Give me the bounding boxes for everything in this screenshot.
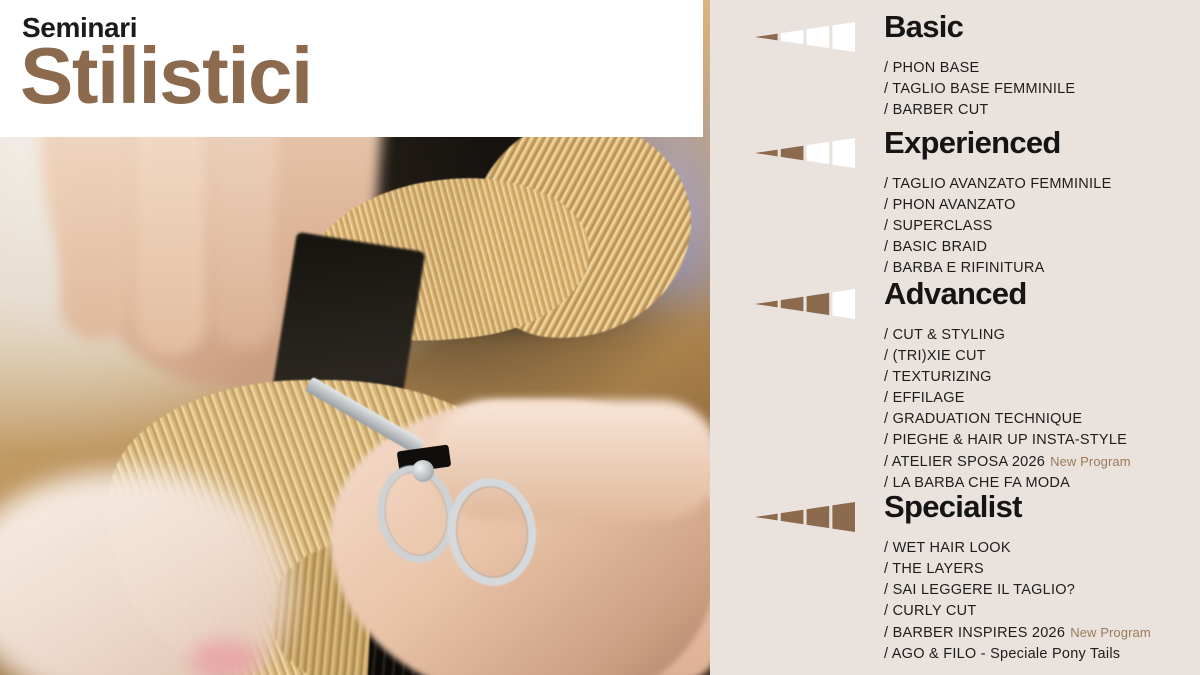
course-item-label: WET HAIR LOOK (893, 540, 1011, 556)
course-item-label: (TRI)XIE CUT (893, 348, 986, 364)
slash-bullet: / (884, 197, 893, 213)
level-section-advanced: Advanced/ CUT & STYLING/ (TRI)XIE CUT/ T… (710, 281, 1200, 325)
title-block: Seminari Stilistici (0, 0, 703, 137)
level-header-experienced: Experienced (710, 130, 1200, 174)
slash-bullet: / (884, 603, 893, 619)
course-item-label: BARBA E RIFINITURA (893, 260, 1045, 276)
slide-root: Seminari Stilistici Basic/ PHON BASE/ TA… (0, 0, 1200, 675)
level-chevron-icon (755, 289, 855, 319)
slash-bullet: / (884, 432, 893, 448)
level-title-advanced: Advanced (884, 275, 1027, 312)
course-item[interactable]: / (TRI)XIE CUT (884, 346, 1131, 367)
course-item-label: SUPERCLASS (893, 218, 993, 234)
course-item[interactable]: / WET HAIR LOOK (884, 538, 1151, 559)
level-section-experienced: Experienced/ TAGLIO AVANZATO FEMMINILE/ … (710, 130, 1200, 174)
slash-bullet: / (884, 454, 892, 470)
course-item[interactable]: / PIEGHE & HAIR UP INSTA-STYLE (884, 430, 1131, 451)
slash-bullet: / (884, 327, 893, 343)
course-list-advanced: / CUT & STYLING/ (TRI)XIE CUT/ TEXTURIZI… (884, 325, 1131, 494)
level-header-specialist: Specialist (710, 494, 1200, 538)
course-item-label: BARBER CUT (893, 102, 989, 118)
level-header-basic: Basic (710, 14, 1200, 58)
course-item-label: CURLY CUT (893, 603, 977, 619)
course-item[interactable]: / SUPERCLASS (884, 216, 1112, 237)
course-item[interactable]: / PHON BASE (884, 58, 1075, 79)
slash-bullet: / (884, 218, 893, 234)
level-title-specialist: Specialist (884, 488, 1022, 525)
slash-bullet: / (884, 540, 893, 556)
new-program-badge: New Program (1050, 454, 1131, 469)
course-item-label: PIEGHE & HAIR UP INSTA-STYLE (893, 432, 1128, 448)
course-item-label: AGO & FILO - Speciale Pony Tails (892, 646, 1121, 662)
course-item-label: TAGLIO BASE FEMMINILE (892, 81, 1075, 97)
new-program-badge: New Program (1070, 625, 1151, 640)
slash-bullet: / (884, 411, 893, 427)
level-title-basic: Basic (884, 8, 963, 45)
slash-bullet: / (884, 582, 893, 598)
level-section-basic: Basic/ PHON BASE/ TAGLIO BASE FEMMINILE/… (710, 14, 1200, 58)
course-item-label: BASIC BRAID (893, 239, 988, 255)
slash-bullet: / (884, 239, 893, 255)
slash-bullet: / (884, 348, 893, 364)
slash-bullet: / (884, 625, 893, 641)
course-item-label: GRADUATION TECHNIQUE (893, 411, 1083, 427)
level-title-experienced: Experienced (884, 124, 1061, 161)
slash-bullet: / (884, 390, 893, 406)
level-header-advanced: Advanced (710, 281, 1200, 325)
course-item[interactable]: / EFFILAGE (884, 388, 1131, 409)
course-item-label: PHON AVANZATO (893, 197, 1016, 213)
slash-bullet: / (884, 646, 892, 662)
level-chevron-icon (755, 502, 855, 532)
course-list-basic: / PHON BASE/ TAGLIO BASE FEMMINILE/ BARB… (884, 58, 1075, 121)
course-item[interactable]: / ATELIER SPOSA 2026New Program (884, 451, 1131, 473)
course-item[interactable]: / CUT & STYLING (884, 325, 1131, 346)
course-list-specialist: / WET HAIR LOOK/ THE LAYERS/ SAI LEGGERE… (884, 538, 1151, 665)
course-list-experienced: / TAGLIO AVANZATO FEMMINILE/ PHON AVANZA… (884, 174, 1112, 279)
course-item-label: TEXTURIZING (892, 369, 991, 385)
course-item-label: ATELIER SPOSA 2026 (892, 454, 1045, 470)
slash-bullet: / (884, 60, 893, 76)
page-title: Stilistici (20, 36, 312, 116)
course-item[interactable]: / CURLY CUT (884, 601, 1151, 622)
course-item[interactable]: / PHON AVANZATO (884, 195, 1112, 216)
course-item[interactable]: / THE LAYERS (884, 559, 1151, 580)
course-item-label: TAGLIO AVANZATO FEMMINILE (892, 176, 1111, 192)
level-section-specialist: Specialist/ WET HAIR LOOK/ THE LAYERS/ S… (710, 494, 1200, 538)
course-item[interactable]: / TEXTURIZING (884, 367, 1131, 388)
course-item-label: EFFILAGE (893, 390, 965, 406)
course-item[interactable]: / SAI LEGGERE IL TAGLIO? (884, 580, 1151, 601)
course-item-label: BARBER INSPIRES 2026 (893, 625, 1066, 641)
course-item[interactable]: / AGO & FILO - Speciale Pony Tails (884, 644, 1151, 665)
course-item-label: THE LAYERS (892, 561, 984, 577)
course-item-label: PHON BASE (893, 60, 980, 76)
course-item-label: CUT & STYLING (893, 327, 1006, 343)
slash-bullet: / (884, 102, 893, 118)
level-chevron-icon (755, 138, 855, 168)
slash-bullet: / (884, 260, 893, 276)
course-item[interactable]: / BASIC BRAID (884, 237, 1112, 258)
course-item[interactable]: / BARBER INSPIRES 2026New Program (884, 622, 1151, 644)
level-chevron-icon (755, 22, 855, 52)
course-item[interactable]: / TAGLIO BASE FEMMINILE (884, 79, 1075, 100)
course-item-label: SAI LEGGERE IL TAGLIO? (893, 582, 1076, 598)
course-item[interactable]: / GRADUATION TECHNIQUE (884, 409, 1131, 430)
course-item[interactable]: / TAGLIO AVANZATO FEMMINILE (884, 174, 1112, 195)
course-item[interactable]: / BARBER CUT (884, 100, 1075, 121)
course-levels-panel: Basic/ PHON BASE/ TAGLIO BASE FEMMINILE/… (710, 0, 1200, 675)
